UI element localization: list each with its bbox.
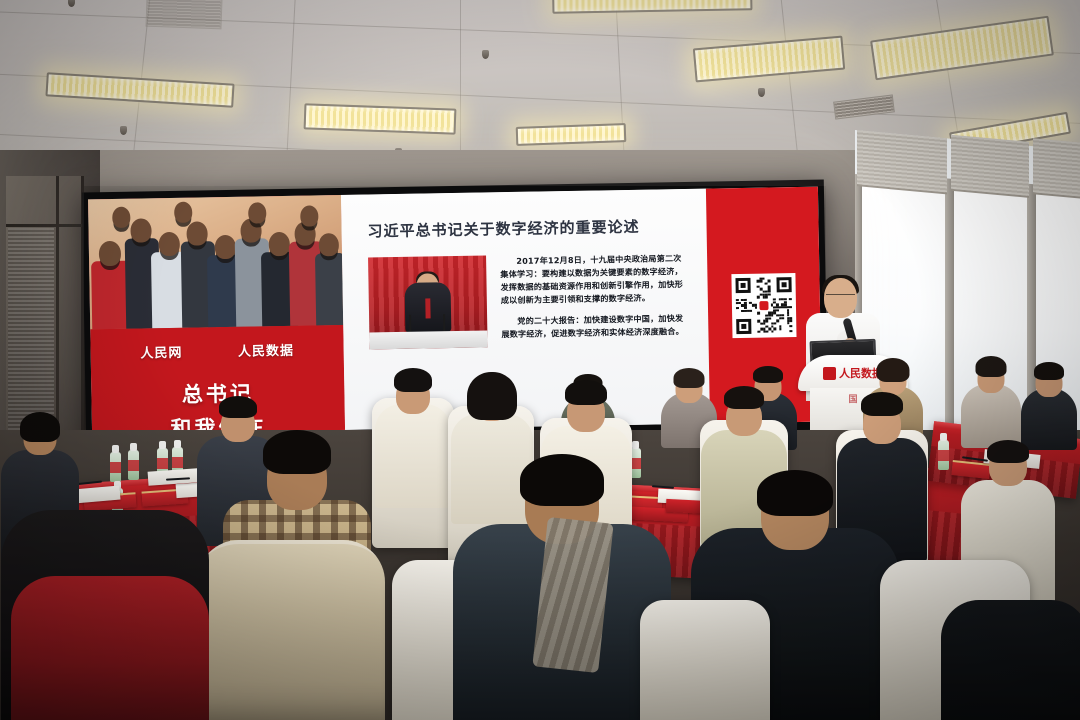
conference-room-scene: 人民网 人民数据 总书记 和我们在 习近平总书记关于数字经济的重要论述 — [0, 0, 1080, 720]
chair — [640, 600, 770, 720]
ceiling-light — [304, 103, 457, 134]
sprinkler-head — [120, 126, 127, 135]
window-blind[interactable] — [857, 130, 947, 194]
renminwang-logo: 人民网 — [140, 342, 182, 362]
qr-center-logo — [757, 298, 770, 311]
logo-row: 人民网 人民数据 — [91, 339, 344, 362]
water-bottle[interactable] — [128, 450, 139, 480]
slide-text-block: 2017年12月8日，十九届中央政治局第二次集体学习：要构建以数据为关键要素的数… — [500, 252, 685, 347]
photo-desk — [369, 330, 487, 349]
slide-body: 2017年12月8日，十九届中央政治局第二次集体学习：要构建以数据为关键要素的数… — [368, 252, 685, 349]
audience-member — [1020, 362, 1078, 446]
audience-member-foreground — [10, 556, 210, 720]
ceiling-light — [45, 72, 234, 107]
ceiling-light — [552, 0, 753, 14]
water-bottle[interactable] — [110, 452, 121, 482]
audience-member-foreground — [940, 600, 1080, 720]
renminshuju-logo: 人民数据 — [238, 340, 294, 360]
podium-logo-icon — [823, 367, 836, 380]
audience-member — [374, 368, 452, 508]
audience-member-foreground — [196, 520, 386, 720]
speech-photo — [368, 255, 488, 349]
window-blind[interactable] — [1033, 138, 1080, 200]
slide-paragraph: 党的二十大报告：加快建设数字中国，加快发展数字经济，促进数字经济和实体经济深度融… — [501, 312, 684, 341]
sprinkler-head — [758, 88, 765, 97]
slide-title: 习近平总书记关于数字经济的重要论述 — [367, 215, 682, 241]
sprinkler-head — [68, 0, 75, 7]
water-bottle[interactable] — [938, 440, 949, 470]
window-blind[interactable] — [951, 135, 1029, 198]
audience-member — [960, 356, 1022, 442]
ceiling-light — [516, 123, 627, 146]
sprinkler-head — [482, 50, 489, 59]
qr-card — [731, 273, 796, 338]
photo-figure-tie — [425, 298, 430, 318]
qr-code[interactable] — [735, 277, 792, 334]
ceiling-light — [870, 16, 1054, 81]
air-vent — [833, 94, 895, 119]
ceiling-light — [693, 36, 845, 83]
group-photo — [88, 195, 343, 329]
slide-paragraph: 2017年12月8日，十九届中央政治局第二次集体学习：要构建以数据为关键要素的数… — [500, 252, 684, 307]
speaker-glasses — [826, 294, 855, 300]
air-vent — [145, 0, 222, 29]
